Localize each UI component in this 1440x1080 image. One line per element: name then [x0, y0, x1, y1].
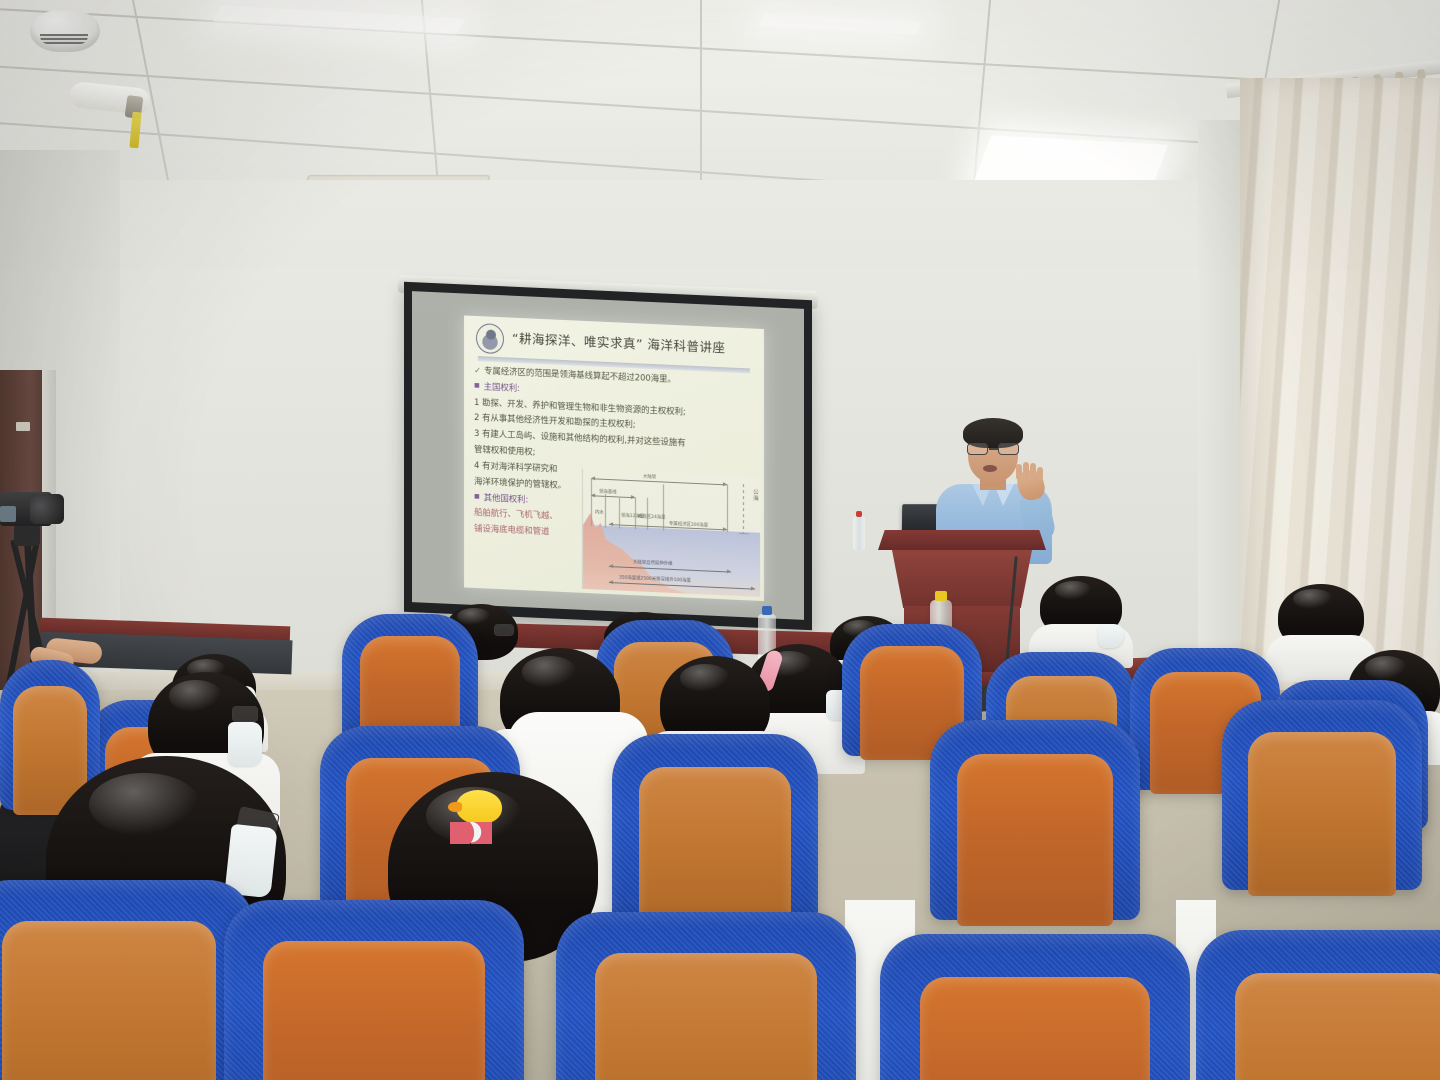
seat-panel [920, 977, 1149, 1080]
seat-panel [263, 941, 485, 1080]
projection-screen-surface: “耕海探洋、唯实求真” 海洋科普讲座 专属经济区的范围是领海基线算起不超过200… [412, 291, 804, 620]
yellow-duck-hair-clip-icon [456, 790, 502, 824]
slide-title: “耕海探洋、唯实求真” 海洋科普讲座 [512, 328, 760, 358]
lectern-top [878, 530, 1046, 550]
seat-panel [957, 754, 1112, 926]
diagram-label-baseline: 领海基线 [599, 489, 617, 496]
speaker-figure [930, 418, 1060, 548]
camera-display [0, 506, 16, 522]
door-plate [16, 422, 30, 431]
tripod-head[interactable] [14, 524, 40, 546]
auditorium-seat[interactable] [556, 912, 856, 1080]
speaker-mouth [983, 465, 997, 472]
seat-panel [1235, 973, 1440, 1080]
smoke-detector-icon [30, 10, 100, 52]
eyeglasses-icon [232, 706, 258, 722]
auditorium-seat[interactable] [224, 900, 524, 1080]
auditorium-seat[interactable] [1222, 700, 1422, 890]
diagram-span-shelf [591, 478, 727, 485]
eyeglasses-icon [966, 443, 1022, 455]
diagram-label-contiguous-zone: 毗连区24海里 [638, 513, 666, 520]
water-bottle[interactable] [853, 516, 865, 550]
ceiling-light-strip [759, 14, 920, 34]
presentation-slide: “耕海探洋、唯实求真” 海洋科普讲座 专属经济区的范围是领海基线算起不超过200… [464, 315, 764, 601]
shirt-logo [560, 736, 588, 758]
auditorium-seat[interactable] [930, 720, 1140, 920]
face-mask-icon [1098, 624, 1124, 648]
diagram-span-baseline [591, 495, 635, 498]
seat-panel [2, 921, 217, 1080]
auditorium-seat[interactable] [880, 934, 1190, 1080]
institute-emblem-icon [476, 323, 504, 354]
lecture-hall-photo: “耕海探洋、唯实求真” 海洋科普讲座 专属经济区的范围是领海基线算起不超过200… [0, 0, 1440, 1080]
eyeglasses-icon [494, 624, 514, 636]
auditorium-seat[interactable] [612, 734, 818, 930]
seat-panel [595, 953, 817, 1080]
hair-tie-beads [450, 822, 492, 844]
seat-panel [639, 767, 791, 936]
sprinkler-tag [129, 112, 141, 149]
auditorium-seat[interactable] [1196, 930, 1440, 1080]
diagram-label-internal-waters: 内水 [595, 509, 604, 515]
maritime-zones-diagram: 大陆架 领海基线 内水 领海12海里 毗连区24海里 专属经济区200海里 [582, 469, 760, 597]
audience-member [1278, 584, 1364, 650]
speaker-fingers [1016, 462, 1044, 480]
projection-screen: “耕海探洋、唯实求真” 海洋科普讲座 专属经济区的范围是领海基线算起不超过200… [404, 282, 812, 631]
ceiling-light-strip [213, 5, 465, 34]
seat-panel [1248, 732, 1396, 895]
auditorium-seat[interactable] [0, 880, 254, 1080]
diagram-label-shelf: 大陆架 [643, 474, 656, 481]
diagram-label-high-seas: 公海 [751, 488, 759, 502]
camera-lens-icon [30, 494, 64, 524]
auditorium-seat[interactable] [342, 614, 478, 744]
